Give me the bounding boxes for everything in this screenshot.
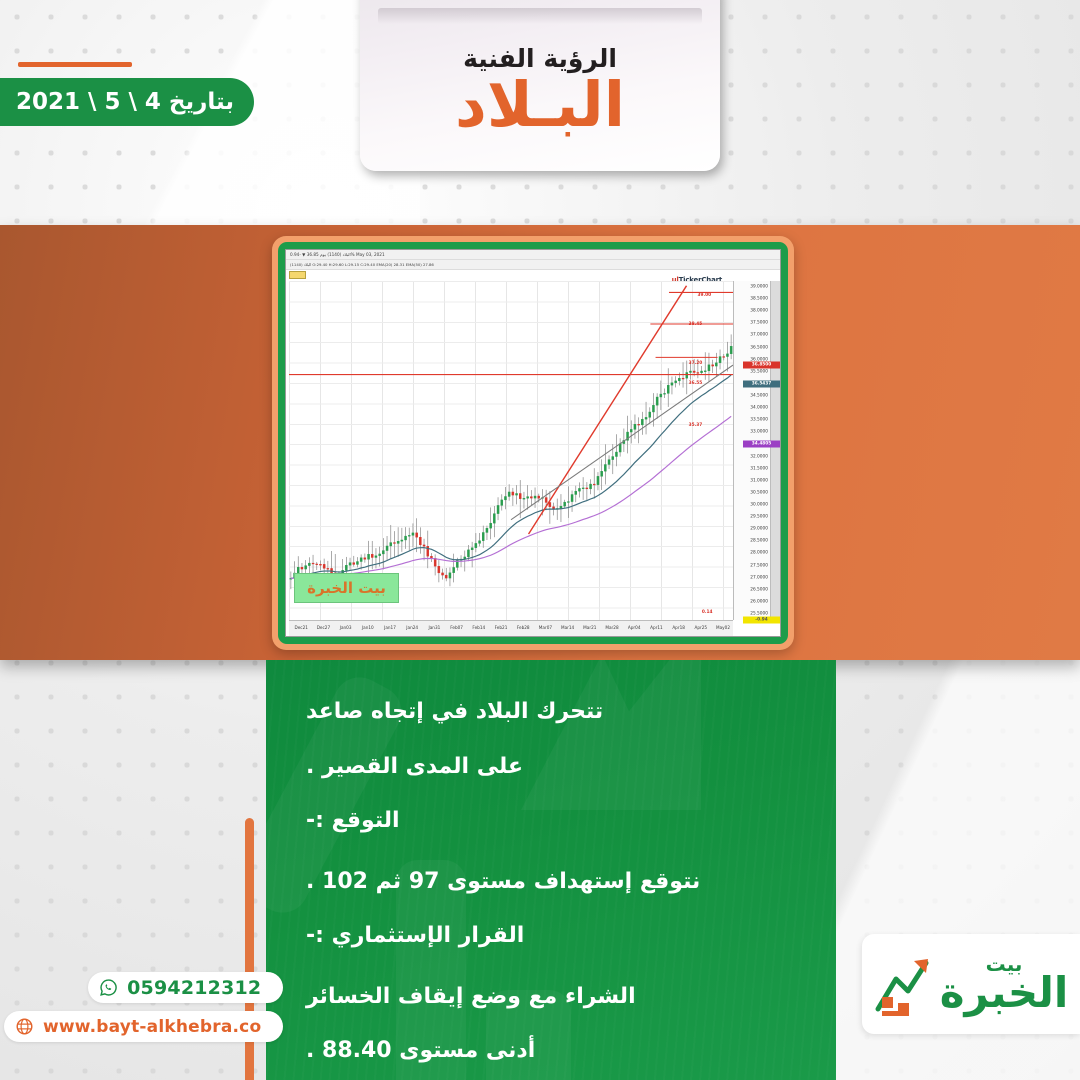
date-tick: Feb28 xyxy=(517,625,530,630)
chart-annotation: 38.45 xyxy=(689,322,703,327)
date-tick: Mar21 xyxy=(583,625,596,630)
price-tick: 32.0000 xyxy=(750,454,768,459)
analysis-line: أدنى مستوى 88.40 . xyxy=(306,1037,535,1065)
price-tick: 30.0000 xyxy=(750,502,768,507)
price-tick: 31.0000 xyxy=(750,478,768,483)
price-tick: 26.5000 xyxy=(750,587,768,592)
website-contact-pill[interactable]: www.bayt-alkhebra.co xyxy=(4,1011,283,1042)
date-tick: Mar14 xyxy=(561,625,574,630)
date-tick: Feb14 xyxy=(472,625,485,630)
chart-scrollbar-column[interactable] xyxy=(770,281,780,620)
chart-annotation: 0.14 xyxy=(702,610,713,615)
company-logo: بيت الخبرة xyxy=(862,934,1080,1034)
date-tick: Jan03 xyxy=(340,625,352,630)
chart-drawn-lines xyxy=(289,281,733,620)
price-tick: 36.5000 xyxy=(750,345,768,350)
price-tick: 29.0000 xyxy=(750,527,768,532)
date-tick: Jan31 xyxy=(429,625,441,630)
date-tick: Mar28 xyxy=(605,625,618,630)
chart-annotation: 37.20 xyxy=(689,361,703,366)
analysis-line: القرار الإستثماري :- xyxy=(306,922,524,957)
chart-price-axis[interactable]: 39.000038.500038.000037.500037.000036.50… xyxy=(733,281,770,620)
website-url: www.bayt-alkhebra.co xyxy=(43,1017,261,1037)
chart-screenshot: البلاد (1140) يوم 36.85 ▼ -0.94% May 03,… xyxy=(285,249,781,637)
price-tick: 31.5000 xyxy=(750,466,768,471)
price-tick: 34.0000 xyxy=(750,406,768,411)
price-tag-red: 36.8500 xyxy=(743,361,780,368)
chart-watermark: بيت الخبرة xyxy=(294,573,399,603)
price-tick: 33.5000 xyxy=(750,418,768,423)
chart-green-frame: البلاد (1140) يوم 36.85 ▼ -0.94% May 03,… xyxy=(278,242,788,644)
date-accent-rule xyxy=(18,62,132,67)
whatsapp-icon xyxy=(99,978,118,997)
date-tick: May02 xyxy=(716,625,730,630)
price-tick: 38.0000 xyxy=(750,309,768,314)
analysis-text-block: تتحرك البلاد في إتجاه صاعدعلى المدى القص… xyxy=(266,660,836,1080)
price-tick: 29.5000 xyxy=(750,515,768,520)
price-tick: 38.5000 xyxy=(750,297,768,302)
date-tick: Apr11 xyxy=(650,625,663,630)
chart-indicator-header: البلاد (1140) O:29.40 H:29.60 L:29.15 C:… xyxy=(286,260,780,270)
date-tick: Jan10 xyxy=(362,625,374,630)
date-tick: Dec21 xyxy=(294,625,307,630)
chart-toolbar-button[interactable] xyxy=(289,271,306,279)
price-tag-purple: 34.4805 xyxy=(743,440,780,447)
price-tick: 30.5000 xyxy=(750,490,768,495)
price-tag-teal: 36.5437 xyxy=(743,380,780,387)
date-tick: Jan17 xyxy=(384,625,396,630)
date-tick: Jan24 xyxy=(406,625,418,630)
price-tick: 33.0000 xyxy=(750,430,768,435)
date-badge: بتاريخ 4 \ 5 \ 2021 xyxy=(0,78,254,126)
globe-icon xyxy=(15,1017,34,1036)
chart-header-line1: البلاد (1140) يوم 36.85 ▼ -0.94% May 03,… xyxy=(290,252,385,257)
analysis-line: نتوقع إستهداف مستوى 97 ثم 102 . xyxy=(306,868,700,896)
price-tick: 37.0000 xyxy=(750,333,768,338)
logo-wordmark: بيت الخبرة xyxy=(940,955,1069,1012)
chart-card: البلاد (1140) يوم 36.85 ▼ -0.94% May 03,… xyxy=(272,236,794,650)
price-tick: 27.0000 xyxy=(750,575,768,580)
date-tick: Feb21 xyxy=(495,625,508,630)
date-tick: Dec27 xyxy=(317,625,330,630)
price-tick: 37.5000 xyxy=(750,321,768,326)
chart-symbol-header: البلاد (1140) يوم 36.85 ▼ -0.94% May 03,… xyxy=(286,250,780,260)
date-tick: Apr04 xyxy=(628,625,641,630)
price-tick: 26.0000 xyxy=(750,599,768,604)
chart-annotation: 35.37 xyxy=(689,423,703,428)
contact-block: 0594212312 www.bayt-alkhebra.co xyxy=(4,972,283,1042)
price-tag-yellow: -0.94 xyxy=(743,617,780,624)
chart-plot-area: 39.0038.4537.2036.5535.370.14 بيت الخبرة xyxy=(289,281,733,620)
title-card: الرؤية الفنية البـلاد xyxy=(360,0,720,171)
analysis-line: على المدى القصير . xyxy=(306,753,523,781)
whatsapp-contact-pill[interactable]: 0594212312 xyxy=(88,972,283,1003)
price-tick: 34.5000 xyxy=(750,394,768,399)
chart-header-line2: البلاد (1140) O:29.40 H:29.60 L:29.15 C:… xyxy=(290,262,434,267)
analysis-line: التوقع :- xyxy=(306,807,400,842)
report-title: البـلاد xyxy=(455,73,625,136)
date-tick: Apr25 xyxy=(695,625,708,630)
price-tick: 27.5000 xyxy=(750,563,768,568)
price-tick: 28.0000 xyxy=(750,551,768,556)
rising-trendline-upper xyxy=(529,286,687,534)
analysis-line: الشراء مع وضع إيقاف الخسائر xyxy=(306,983,636,1011)
date-tick: Mar07 xyxy=(539,625,552,630)
date-tick: Apr18 xyxy=(672,625,685,630)
growth-arrow-icon xyxy=(874,951,936,1017)
date-tick: Feb07 xyxy=(450,625,463,630)
price-tick: 28.5000 xyxy=(750,539,768,544)
logo-khebra-text: الخبرة xyxy=(940,974,1069,1013)
chart-annotation: 39.00 xyxy=(697,293,711,298)
price-tick: 35.5000 xyxy=(750,369,768,374)
whatsapp-number: 0594212312 xyxy=(127,977,261,999)
price-tick: 39.0000 xyxy=(750,285,768,290)
chart-annotation: 36.55 xyxy=(689,381,703,386)
chart-date-axis[interactable]: Dec21Dec27Jan03Jan10Jan17Jan24Jan31Feb07… xyxy=(289,620,733,636)
analysis-line: تتحرك البلاد في إتجاه صاعد xyxy=(306,698,603,726)
analysis-panel: تتحرك البلاد في إتجاه صاعدعلى المدى القص… xyxy=(266,660,836,1080)
